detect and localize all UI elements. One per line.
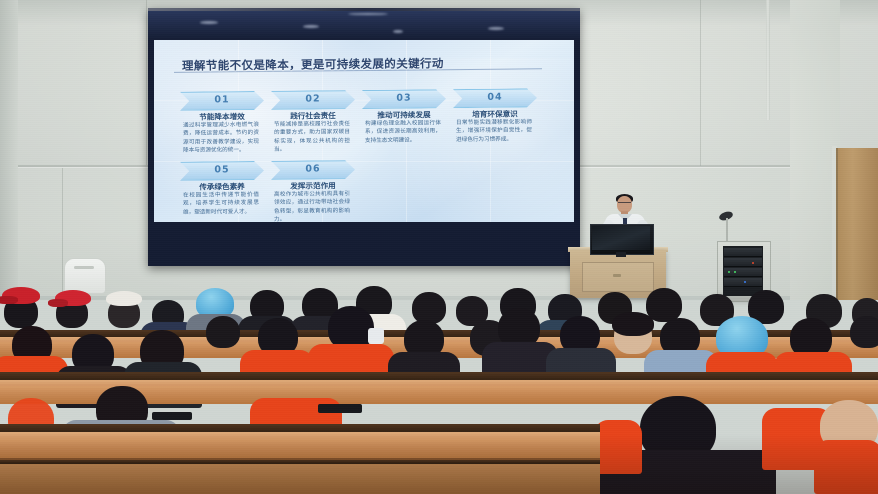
cap-brim bbox=[48, 299, 68, 307]
chevron-step-04: 04 bbox=[453, 88, 537, 108]
smartphone[interactable] bbox=[152, 412, 192, 420]
bezel-reflection bbox=[303, 25, 319, 28]
desk-front-panel bbox=[0, 460, 600, 494]
rack-led-icon bbox=[734, 271, 736, 273]
audience-head bbox=[850, 316, 878, 348]
card-body-02: 节能减排是高校履行社会责任的重要方式，助力国家双碳目标实现，体现公共机构的担当。 bbox=[274, 120, 350, 154]
audience-torso-orange bbox=[594, 420, 642, 474]
bezel-reflection bbox=[200, 21, 218, 24]
slide-content: 理解节能不仅是降本，更是可持续发展的关键行动 01 02 03 04 节能降本增… bbox=[154, 40, 574, 222]
rack-led-icon bbox=[728, 271, 730, 273]
step-number: 04 bbox=[453, 91, 537, 103]
step-number: 03 bbox=[362, 92, 446, 104]
face-mask bbox=[368, 328, 384, 344]
card-body-01: 通过科学管理减少水电燃气浪费，降低运营成本。节约的资源可用于改善教学建设，实现降… bbox=[183, 121, 259, 155]
lecture-hall-screenshot: 理解节能不仅是降本，更是可持续发展的关键行动 01 02 03 04 节能降本增… bbox=[0, 0, 878, 494]
white-plastic-chair[interactable] bbox=[64, 258, 106, 294]
chevron-step-05: 05 bbox=[180, 161, 264, 181]
bezel-reflection bbox=[393, 30, 403, 33]
glasses-icon bbox=[618, 202, 631, 206]
card-body-06: 高校作为城市公共机构具有引领效应，通过行动带动社会绿色转型，彰显教育机构的影响力… bbox=[274, 190, 350, 222]
chevron-step-06: 06 bbox=[271, 160, 355, 180]
rack-unit[interactable] bbox=[724, 258, 762, 267]
rack-led-icon bbox=[744, 281, 746, 283]
podium-handle[interactable] bbox=[613, 274, 621, 277]
desk-panel-shadow bbox=[0, 460, 600, 464]
audience-head bbox=[206, 316, 240, 348]
monitor-stand bbox=[616, 252, 626, 257]
step-number: 06 bbox=[271, 163, 355, 175]
chevron-step-02: 02 bbox=[271, 90, 355, 110]
audience-torso-orange bbox=[814, 440, 878, 494]
smartphone[interactable] bbox=[318, 404, 362, 413]
cap-brim bbox=[0, 296, 18, 304]
presentation-screen[interactable]: 理解节能不仅是降本，更是可持续发展的关键行动 01 02 03 04 节能降本增… bbox=[148, 8, 580, 266]
bezel-gloss bbox=[148, 11, 580, 41]
audience-head bbox=[412, 292, 446, 324]
monitor-screen bbox=[592, 226, 650, 250]
slide-title: 理解节能不仅是降本，更是可持续发展的关键行动 bbox=[182, 54, 522, 73]
bezel-reflection bbox=[348, 13, 388, 15]
chevron-step-03: 03 bbox=[362, 89, 446, 109]
desk-row-3 bbox=[0, 438, 600, 460]
chair-backrest-slot bbox=[74, 266, 94, 269]
step-number: 05 bbox=[180, 164, 264, 176]
card-body-03: 构建绿色理念融入校园运行体系，促进资源长期高效利用，支持生态文明建设。 bbox=[365, 119, 441, 145]
card-body-04: 日常节能实践潜移默化影响师生，增强环境保护自觉性，促进绿色行为习惯养成。 bbox=[456, 118, 532, 144]
step-number: 01 bbox=[180, 94, 264, 106]
step-number: 02 bbox=[271, 93, 355, 105]
podium-front-panel bbox=[582, 262, 654, 292]
white-cap bbox=[106, 291, 142, 306]
rack-unit[interactable] bbox=[724, 248, 762, 257]
bezel-reflection bbox=[488, 27, 504, 30]
card-body-05: 在校园生活中传递节能价值观，培养学生可持续发展思维，塑造新时代可爱人才。 bbox=[183, 191, 259, 217]
audience-hair bbox=[612, 312, 654, 336]
chevron-step-01: 01 bbox=[180, 91, 264, 111]
rack-led-icon bbox=[752, 262, 754, 264]
rack-unit[interactable] bbox=[724, 278, 762, 287]
